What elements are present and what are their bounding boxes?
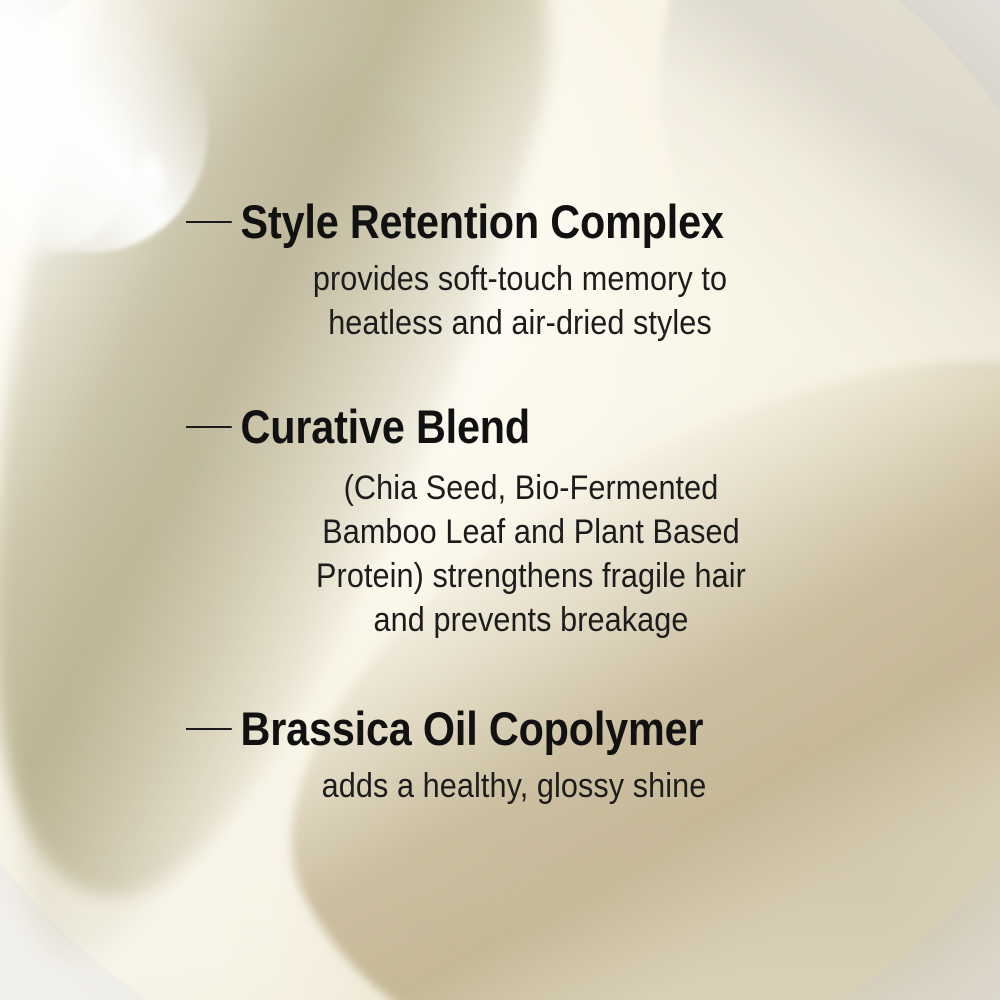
benefit-description-line: Protein) strengthens fragile hair bbox=[109, 554, 953, 598]
benefit-description-line: adds a healthy, glossy shine bbox=[77, 764, 952, 808]
product-benefits-graphic: Style Retention Complex provides soft-to… bbox=[0, 0, 1000, 1000]
benefit-item: Brassica Oil Copolymer adds a healthy, g… bbox=[0, 700, 1000, 808]
em-dash-icon bbox=[186, 728, 232, 730]
benefit-description-line: heatless and air-dried styles bbox=[88, 301, 952, 345]
benefit-description-line: provides soft-touch memory to bbox=[88, 257, 952, 301]
benefit-heading-text: Brassica Oil Copolymer bbox=[241, 702, 704, 755]
benefit-item: Style Retention Complex provides soft-to… bbox=[0, 193, 1000, 345]
benefit-description-line: and prevents breakage bbox=[109, 598, 953, 642]
benefits-copy: Style Retention Complex provides soft-to… bbox=[0, 0, 1000, 1000]
benefit-heading: Curative Blend bbox=[22, 398, 902, 456]
em-dash-icon bbox=[186, 426, 232, 428]
benefit-description-line: (Chia Seed, Bio-Fermented bbox=[109, 466, 953, 510]
benefit-item: Curative Blend (Chia Seed, Bio-Fermented… bbox=[0, 398, 1000, 642]
benefit-heading-text: Curative Blend bbox=[241, 400, 530, 453]
benefit-description: adds a healthy, glossy shine bbox=[0, 764, 1000, 808]
benefit-description: (Chia Seed, Bio-Fermented Bamboo Leaf an… bbox=[0, 466, 1000, 642]
benefit-description-line: Bamboo Leaf and Plant Based bbox=[109, 510, 953, 554]
em-dash-icon bbox=[186, 221, 232, 223]
benefit-heading: Style Retention Complex bbox=[22, 193, 902, 251]
benefit-heading: Brassica Oil Copolymer bbox=[22, 700, 902, 758]
benefit-heading-text: Style Retention Complex bbox=[241, 195, 724, 248]
benefit-description: provides soft-touch memory to heatless a… bbox=[0, 257, 1000, 345]
